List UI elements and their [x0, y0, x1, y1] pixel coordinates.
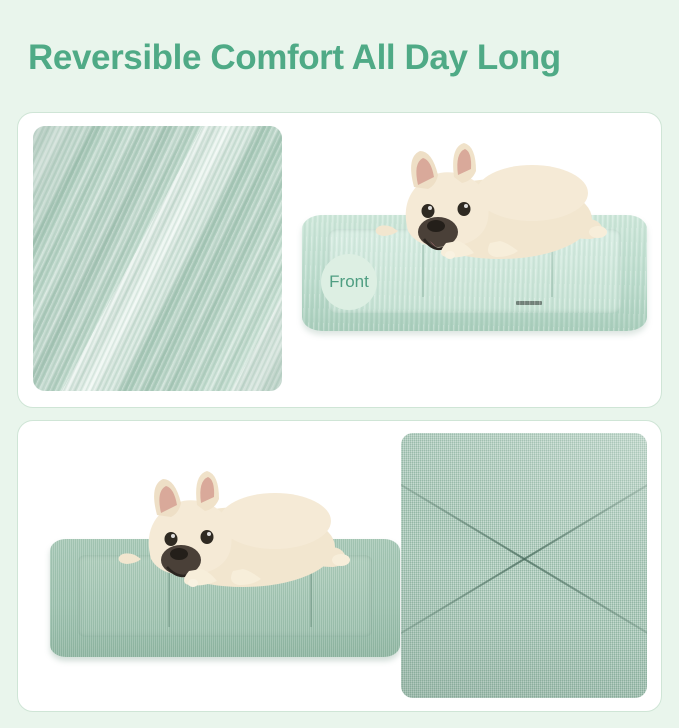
faux-fur-texture-image — [33, 126, 282, 391]
product-card-back: Back Textured Faux-linen Fabric: Ensures… — [17, 420, 662, 712]
badge-front: Front — [321, 254, 377, 310]
dog-on-linen-photo — [30, 441, 410, 673]
fur-shading-overlay — [33, 126, 282, 391]
badge-front-label: Front — [329, 272, 369, 292]
french-bulldog-illustration — [92, 459, 364, 599]
french-bulldog-illustration — [350, 131, 620, 271]
linen-shading-overlay — [401, 433, 647, 698]
product-card-front: Front Cozy Faux Fur: Keeps your puppy wa… — [17, 112, 662, 408]
page-title: Reversible Comfort All Day Long — [28, 36, 668, 80]
dog-on-fur-photo — [288, 123, 660, 353]
faux-linen-texture-image — [401, 433, 647, 698]
